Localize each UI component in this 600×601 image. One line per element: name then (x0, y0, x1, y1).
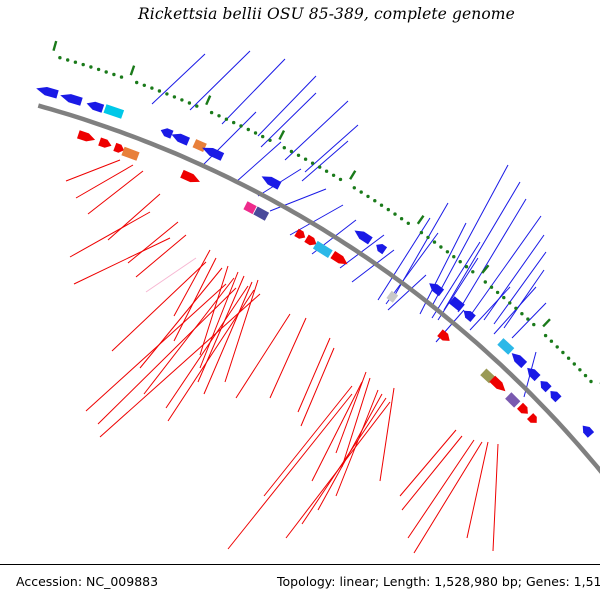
minor-tick-dot (561, 351, 564, 354)
minor-tick-dot (180, 98, 183, 101)
major-tick-mark (54, 41, 57, 51)
minor-tick-dot (188, 101, 191, 104)
gene-arrow[interactable] (304, 235, 316, 246)
leader-line (144, 278, 234, 394)
gene-block[interactable] (497, 338, 514, 355)
minor-tick-dot (465, 265, 468, 268)
minor-tick-dot (283, 146, 286, 149)
gene-block[interactable] (505, 392, 520, 407)
minor-tick-dot (89, 65, 92, 68)
leader-line (432, 165, 508, 306)
gene-arrow[interactable] (330, 251, 347, 264)
leader-line (414, 442, 482, 553)
leader-line (302, 141, 348, 181)
scale-dot-layer (54, 41, 600, 600)
gene-arrow[interactable] (464, 311, 476, 322)
minor-tick-dot (508, 301, 511, 304)
leader-line (236, 142, 281, 182)
gene-arrow[interactable] (550, 391, 561, 402)
status-bar: Accession: NC_009883 Topology: linear; L… (0, 564, 600, 601)
minor-tick-dot (452, 255, 455, 258)
leader-line (336, 372, 366, 453)
minor-tick-dot (254, 131, 257, 134)
minor-tick-dot (459, 260, 462, 263)
leader-line (200, 266, 228, 355)
leader-line (128, 222, 178, 263)
leader-line-layer (66, 51, 546, 553)
minor-tick-dot (387, 208, 390, 211)
gene-arrow[interactable] (583, 426, 594, 438)
genome-map-view: Rickettsia bellii OSU 85-389, complete g… (0, 0, 600, 600)
minor-tick-dot (135, 81, 138, 84)
backbone-line (38, 106, 600, 600)
leader-line (484, 235, 544, 320)
gene-arrow[interactable] (113, 143, 124, 153)
minor-tick-dot (112, 73, 115, 76)
leader-line (493, 444, 498, 551)
leader-line (200, 272, 238, 368)
leader-line (467, 442, 488, 538)
minor-tick-dot (217, 114, 220, 117)
gene-block[interactable] (253, 207, 269, 221)
minor-tick-dot (58, 56, 61, 59)
minor-tick-dot (311, 162, 314, 165)
gene-arrow[interactable] (376, 244, 387, 254)
gene-arrow[interactable] (98, 138, 111, 148)
minor-tick-dot (471, 270, 474, 273)
minor-tick-dot (589, 380, 592, 383)
leader-line (146, 258, 196, 292)
leader-line (444, 182, 520, 310)
major-tick-mark (279, 131, 284, 140)
minor-tick-dot (373, 199, 376, 202)
minor-tick-dot (353, 186, 356, 189)
leader-line (494, 252, 546, 324)
leader-line (400, 430, 456, 496)
minor-tick-dot (439, 245, 442, 248)
minor-tick-dot (446, 250, 449, 253)
leader-line (152, 54, 205, 104)
minor-tick-dot (573, 362, 576, 365)
major-tick-mark (131, 66, 134, 76)
minor-tick-dot (304, 158, 307, 161)
minor-tick-dot (550, 340, 553, 343)
gene-arrow[interactable] (355, 231, 373, 245)
minor-tick-dot (261, 135, 264, 138)
minor-tick-dot (400, 217, 403, 220)
leader-line (76, 165, 133, 198)
major-tick-mark (206, 96, 210, 105)
gene-arrow[interactable] (60, 94, 82, 106)
minor-tick-dot (318, 165, 321, 168)
minor-tick-dot (339, 178, 342, 181)
minor-tick-dot (332, 174, 335, 177)
gene-arrow[interactable] (202, 148, 224, 161)
minor-tick-dot (247, 128, 250, 131)
minor-tick-dot (82, 63, 85, 66)
leader-line (168, 290, 254, 421)
minor-tick-dot (584, 374, 587, 377)
minor-tick-dot (297, 154, 300, 157)
major-tick-mark (350, 171, 355, 180)
leader-line (264, 386, 352, 496)
gene-arrow[interactable] (87, 102, 105, 113)
leader-line (312, 382, 362, 481)
minor-tick-dot (556, 345, 559, 348)
gene-arrow[interactable] (527, 413, 537, 423)
minor-tick-dot (66, 58, 69, 61)
minor-tick-dot (173, 95, 176, 98)
minor-tick-dot (490, 286, 493, 289)
gene-arrow[interactable] (429, 283, 444, 296)
minor-tick-dot (360, 190, 363, 193)
minor-tick-dot (484, 280, 487, 283)
major-tick-mark (543, 319, 550, 326)
minor-tick-dot (225, 118, 228, 121)
minor-tick-dot (502, 296, 505, 299)
major-tick-mark (418, 216, 424, 224)
gene-arrow[interactable] (180, 170, 200, 182)
minor-tick-dot (433, 240, 436, 243)
minor-tick-dot (532, 323, 535, 326)
minor-tick-dot (210, 111, 213, 114)
minor-tick-dot (380, 204, 383, 207)
leader-line (203, 112, 256, 165)
minor-tick-dot (544, 334, 547, 337)
gene-arrow[interactable] (517, 403, 528, 414)
leader-line (66, 160, 120, 181)
gene-arrow[interactable] (77, 130, 95, 141)
leader-line (270, 318, 306, 398)
minor-tick-dot (290, 150, 293, 153)
minor-tick-dot (420, 231, 423, 234)
minor-tick-dot (578, 368, 581, 371)
minor-tick-dot (74, 61, 77, 64)
gene-arrow[interactable] (36, 87, 59, 99)
leader-line (408, 440, 474, 538)
minor-tick-dot (268, 139, 271, 142)
genome-stats-text: Topology: linear; Length: 1,528,980 bp; … (277, 574, 600, 589)
leader-line (98, 288, 236, 424)
leader-line (402, 436, 462, 510)
minor-tick-dot (567, 357, 570, 360)
minor-tick-dot (325, 170, 328, 173)
minor-tick-dot (426, 236, 429, 239)
page-title: Rickettsia bellii OSU 85-389, complete g… (138, 5, 558, 23)
leader-line (504, 270, 544, 328)
leader-line (494, 287, 536, 334)
leader-line (236, 314, 290, 398)
accession-text: Accession: NC_009883 (16, 574, 158, 589)
leader-line (305, 125, 358, 172)
forward-strand-features[interactable] (36, 87, 600, 600)
leader-line (70, 212, 150, 257)
leader-line (286, 402, 390, 538)
genome-map-canvas[interactable] (0, 0, 600, 600)
leader-line (470, 216, 541, 316)
leader-line (108, 194, 160, 240)
minor-tick-dot (239, 124, 242, 127)
gene-arrow[interactable] (294, 229, 305, 239)
minor-tick-dot (120, 75, 123, 78)
leader-line (285, 101, 348, 160)
leader-line (270, 189, 326, 211)
gene-arrow[interactable] (512, 353, 527, 368)
minor-tick-dot (150, 86, 153, 89)
minor-tick-dot (143, 84, 146, 87)
gene-arrow[interactable] (541, 381, 552, 392)
genome-backbone[interactable] (38, 106, 600, 600)
minor-tick-dot (393, 212, 396, 215)
leader-line (378, 218, 430, 300)
minor-tick-dot (97, 68, 100, 71)
minor-tick-dot (158, 89, 161, 92)
minor-tick-dot (195, 104, 198, 107)
leader-line (136, 235, 186, 277)
minor-tick-dot (520, 312, 523, 315)
minor-tick-dot (496, 291, 499, 294)
leader-line (166, 286, 248, 408)
minor-tick-dot (526, 317, 529, 320)
leader-line (100, 294, 260, 437)
leader-line (380, 388, 394, 481)
minor-tick-dot (232, 121, 235, 124)
minor-tick-dot (407, 222, 410, 225)
leader-line (458, 199, 526, 312)
minor-tick-dot (514, 307, 517, 310)
minor-tick-dot (366, 195, 369, 198)
minor-tick-dot (105, 70, 108, 73)
leader-line (228, 394, 352, 549)
gene-arrow[interactable] (172, 134, 191, 146)
leader-line (258, 76, 316, 136)
gene-arrow[interactable] (161, 128, 174, 138)
leader-line (140, 268, 222, 368)
leader-line (88, 171, 143, 214)
minor-tick-dot (165, 92, 168, 95)
gene-block[interactable] (104, 104, 125, 119)
gene-block[interactable] (121, 147, 139, 161)
leader-line (298, 338, 330, 412)
